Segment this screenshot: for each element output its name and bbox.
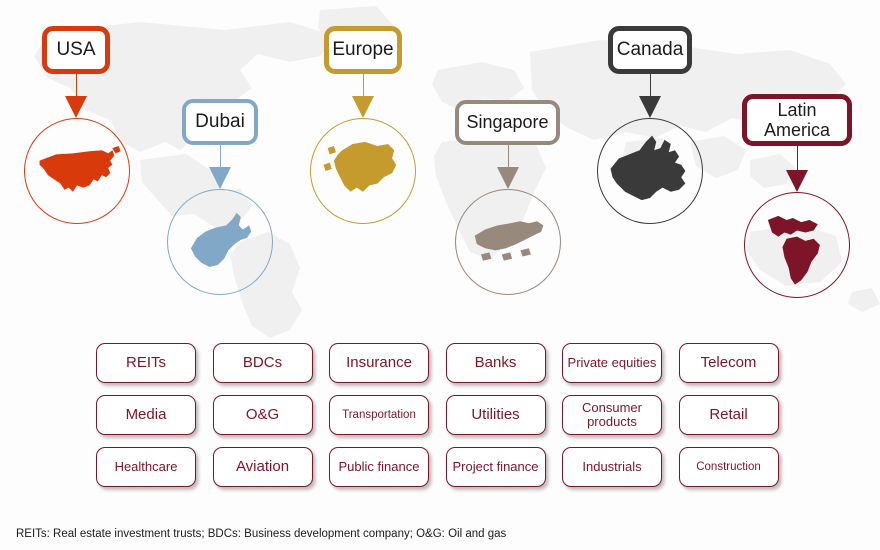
- sector-chip-transportation[interactable]: Transportation: [329, 395, 429, 435]
- sector-chip-public-finance[interactable]: Public finance: [329, 447, 429, 487]
- sector-chip-bdcs[interactable]: BDCs: [213, 343, 313, 383]
- diagram-canvas: USADubaiEuropeSingaporeCanadaLatin Ameri…: [0, 0, 880, 550]
- sector-chip-healthcare[interactable]: Healthcare: [96, 447, 196, 487]
- sector-chip-retail[interactable]: Retail: [679, 395, 779, 435]
- sector-chip-aviation[interactable]: Aviation: [213, 447, 313, 487]
- sector-chip-telecom[interactable]: Telecom: [679, 343, 779, 383]
- sector-chip-project-finance[interactable]: Project finance: [446, 447, 546, 487]
- sector-chip-construction[interactable]: Construction: [679, 447, 779, 487]
- sector-chip-media[interactable]: Media: [96, 395, 196, 435]
- sector-chip-insurance[interactable]: Insurance: [329, 343, 429, 383]
- sector-chip-industrials[interactable]: Industrials: [562, 447, 662, 487]
- sector-chip-o-g[interactable]: O&G: [213, 395, 313, 435]
- sector-chip-private-equities[interactable]: Private equities: [562, 343, 662, 383]
- sector-chip-utilities[interactable]: Utilities: [446, 395, 546, 435]
- sector-chip-reits[interactable]: REITs: [96, 343, 196, 383]
- sector-chip-banks[interactable]: Banks: [446, 343, 546, 383]
- sector-grid: REITsBDCsInsuranceBanksPrivate equitiesT…: [0, 0, 880, 550]
- sector-chip-consumer-products[interactable]: Consumer products: [562, 395, 662, 435]
